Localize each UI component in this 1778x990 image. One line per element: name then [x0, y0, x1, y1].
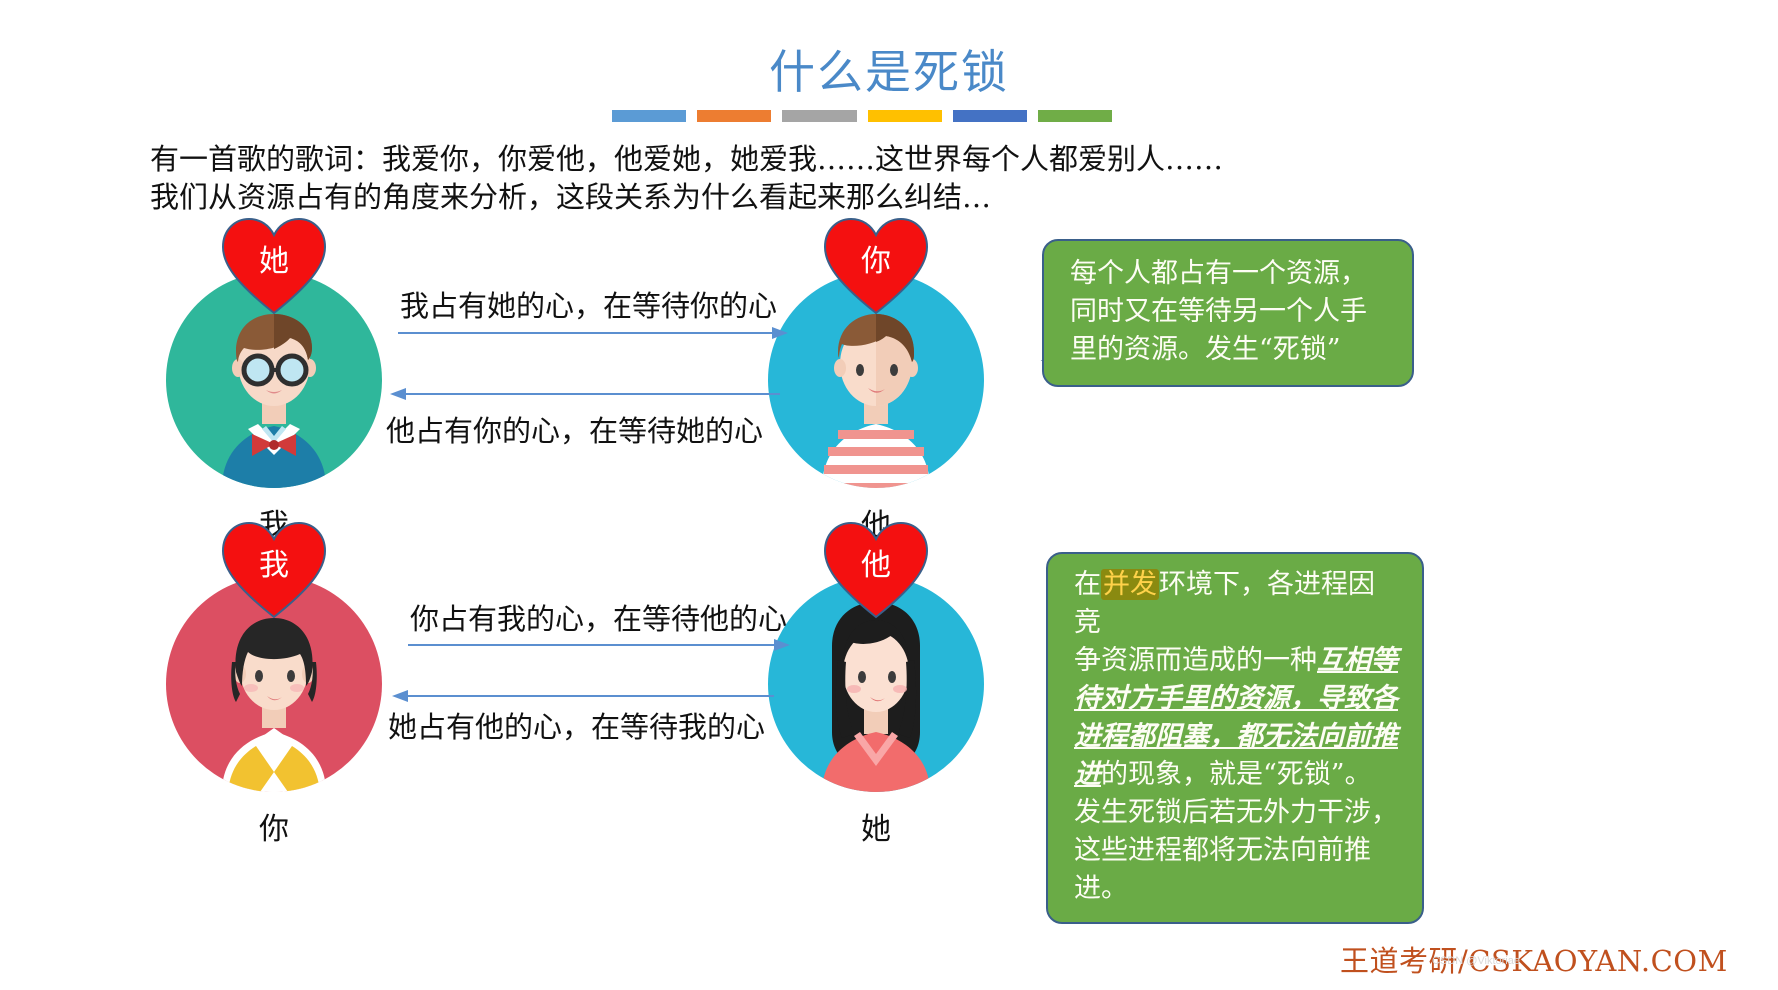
heart-icon: [220, 216, 328, 316]
heart-badge-row2-right: 他: [822, 520, 930, 620]
arrow-row1-forward: [398, 325, 788, 345]
accent-bar-1: [612, 110, 686, 122]
arrow-right-icon: [398, 325, 788, 341]
callout-2-highlight: 并发: [1101, 569, 1159, 600]
slide-canvas: 什么是死锁 有一首歌的歌词：我爱你，你爱他，他爱她，她爱我……这世界每个人都爱别…: [0, 0, 1778, 990]
arrow-row2-forward: [408, 637, 790, 657]
callout-2-line-7: 这些进程都将无法向前推进。: [1074, 832, 1400, 908]
callout-2-line-6: 发生死锁后若无外力干涉，: [1074, 794, 1400, 832]
accent-bar-6: [1038, 110, 1112, 122]
callout-2-emph-2: 待对方手里的资源，导致各: [1074, 680, 1400, 718]
accent-bar-3: [782, 110, 856, 122]
arrow-label-row1-top: 我占有她的心，在等待你的心: [400, 283, 777, 325]
intro-paragraph: 有一首歌的歌词：我爱你，你爱他，他爱她，她爱我……这世界每个人都爱别人…… 我们…: [150, 140, 1400, 216]
arrow-row1-backward: [390, 386, 780, 406]
callout-2-line-2: 争资源而造成的一种互相等: [1074, 642, 1400, 680]
arrow-label-row1-bottom: 他占有你的心，在等待她的心: [386, 408, 763, 450]
arrow-label-row2-top: 你占有我的心，在等待他的心: [410, 596, 787, 638]
callout-2-line-5: 进的现象，就是“死锁”。: [1074, 756, 1400, 794]
brand-watermark: 王道考研/CSKAOYAN.COM: [1340, 938, 1728, 980]
avatar-caption: 你: [126, 804, 422, 848]
accent-bar-2: [697, 110, 771, 122]
accent-bar-4: [868, 110, 942, 122]
page-title: 什么是死锁: [0, 36, 1778, 102]
arrow-left-icon: [390, 386, 780, 402]
callout-2-line-2-plain: 争资源而造成的一种: [1074, 645, 1317, 676]
callout-2-emph-1: 互相等: [1317, 645, 1398, 676]
callout-1-line-1: 每个人都占有一个资源，: [1070, 255, 1390, 293]
callout-2-emph-4: 进: [1074, 759, 1101, 790]
arrow-label-row2-bottom: 她占有他的心，在等待我的心: [388, 704, 765, 746]
callout-box-2: 在并发环境下，各进程因竞 争资源而造成的一种互相等 待对方手里的资源，导致各 进…: [1046, 552, 1424, 924]
callout-1-line-3: 里的资源。发生“死锁”: [1070, 331, 1390, 369]
heart-badge-row2-left: 我: [220, 520, 328, 620]
accent-bar-5: [953, 110, 1027, 122]
arrow-right-icon: [408, 637, 790, 653]
callout-2-tail-text: 的现象，就是“死锁”。: [1101, 759, 1372, 790]
heart-badge-row1-left: 她: [220, 216, 328, 316]
heart-icon: [822, 520, 930, 620]
callout-box-1: 每个人都占有一个资源， 同时又在等待另一个人手 里的资源。发生“死锁”: [1042, 239, 1414, 387]
avatar-row2-left: 我 你: [166, 576, 382, 792]
callout-1-line-2: 同时又在等待另一个人手: [1070, 293, 1390, 331]
title-accent-bars: [612, 110, 1112, 122]
heart-icon: [822, 216, 930, 316]
avatar-caption: 她: [728, 804, 1024, 848]
site-watermark: CSDN @Viktoriae: [1432, 955, 1520, 967]
heart-badge-row1-right: 你: [822, 216, 930, 316]
heart-icon: [220, 520, 328, 620]
callout-2-seg-a: 在: [1074, 569, 1101, 600]
avatar-row1-left: 她 我: [166, 272, 382, 488]
callout-2-emph-3: 进程都阻塞，都无法向前推: [1074, 718, 1400, 756]
avatar-row2-right: 他 她: [768, 576, 984, 792]
avatar-row1-right: 你 他: [768, 272, 984, 488]
arrow-left-icon: [392, 688, 774, 704]
callout-2-line-1: 在并发环境下，各进程因竞: [1074, 566, 1400, 642]
